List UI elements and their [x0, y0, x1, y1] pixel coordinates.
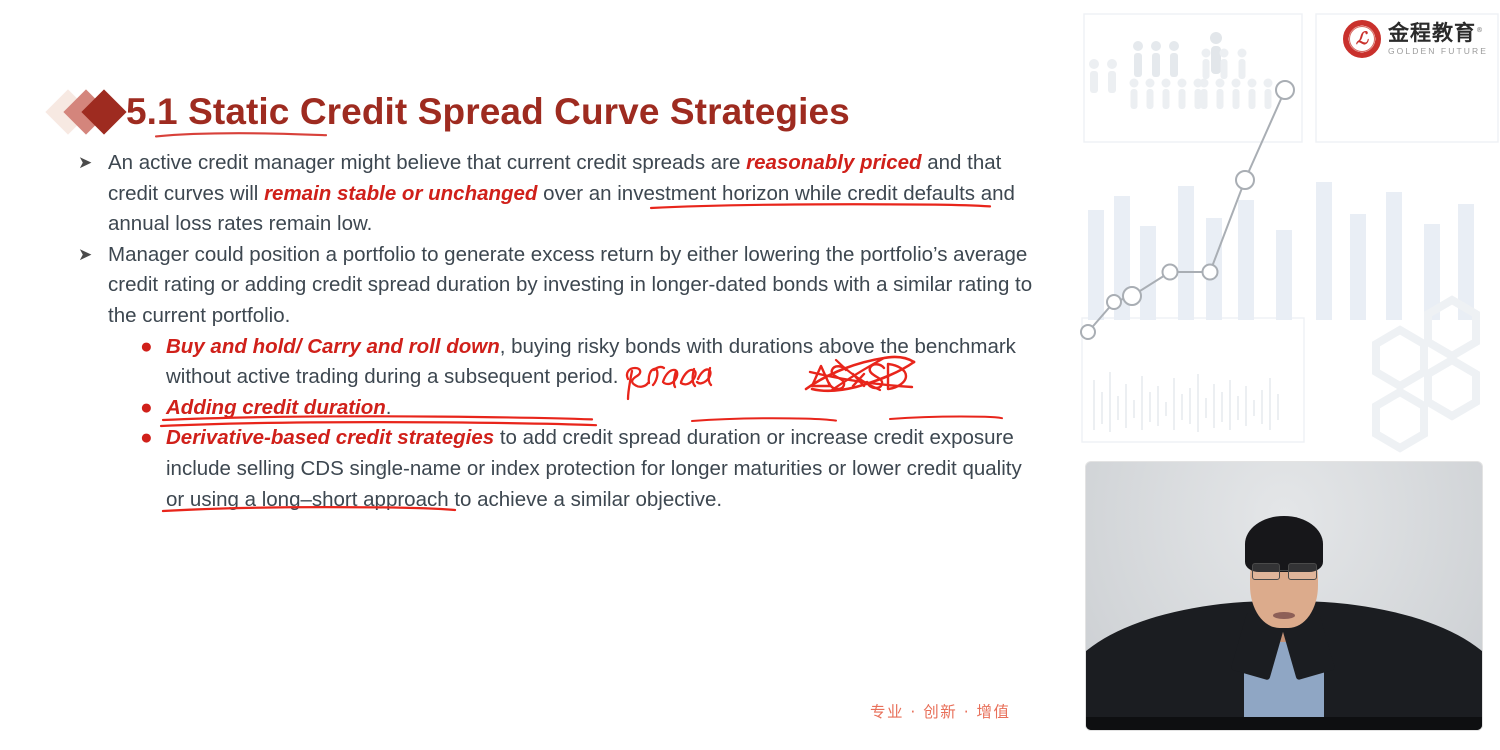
- logo-english-name: GOLDEN FUTURE: [1388, 47, 1488, 56]
- bullet-item: ➤ An active credit manager might believe…: [78, 148, 1038, 240]
- sub-bullet-text: Adding credit duration.: [166, 393, 1038, 424]
- sub-bullet-item: ● Derivative-based credit strategies to …: [140, 423, 1038, 515]
- slide-content-area: 5.1 Static Credit Spread Curve Strategie…: [0, 0, 1080, 750]
- emphasis-adding-credit-duration: Adding credit duration: [166, 396, 386, 419]
- emphasis-remain-stable: remain stable or unchanged: [264, 182, 537, 205]
- logo-seal-icon: ℒ: [1343, 20, 1381, 58]
- arrow-bullet-icon: ➤: [78, 148, 108, 240]
- slide-body: ➤ An active credit manager might believe…: [78, 148, 1038, 515]
- diamond-bullet-icon: [52, 89, 126, 135]
- logo-monogram: ℒ: [1344, 21, 1380, 57]
- sub-bullet-text: Buy and hold/ Carry and roll down, buyin…: [166, 332, 1038, 393]
- footer-tagline: 专业 · 创新 · 增值: [870, 700, 1011, 722]
- emphasis-buy-and-hold: Buy and hold/ Carry and roll down: [166, 335, 500, 358]
- bullet-text: Manager could position a portfolio to ge…: [108, 240, 1038, 332]
- decorative-infographic: [1080, 0, 1500, 460]
- sub-bullet-group: ● Buy and hold/ Carry and roll down, buy…: [140, 332, 1038, 516]
- sub-bullet-item: ● Adding credit duration.: [140, 393, 1038, 424]
- sub-bullet-text: Derivative-based credit strategies to ad…: [166, 423, 1038, 515]
- emphasis-derivative-based: Derivative-based credit strategies: [166, 426, 494, 449]
- dot-bullet-icon: ●: [140, 423, 166, 515]
- page-title: 5.1 Static Credit Spread Curve Strategie…: [126, 93, 850, 130]
- emphasis-reasonably-priced: reasonably priced: [746, 151, 921, 174]
- ink-underline-title: [155, 131, 327, 138]
- trademark-icon: ®: [1476, 26, 1484, 34]
- bullet-item: ➤ Manager could position a portfolio to …: [78, 240, 1038, 332]
- faint-asterisk-mark: *: [380, 464, 384, 476]
- brand-logo: ℒ 金程教育® GOLDEN FUTURE: [1343, 20, 1488, 58]
- dot-bullet-icon: ●: [140, 393, 166, 424]
- arrow-bullet-icon: ➤: [78, 240, 108, 332]
- sub-bullet-item: ● Buy and hold/ Carry and roll down, buy…: [140, 332, 1038, 393]
- logo-chinese-name: 金程教育®: [1388, 23, 1488, 44]
- dot-bullet-icon: ●: [140, 332, 166, 393]
- glasses-icon: [1252, 563, 1317, 580]
- presentation-slide: 5.1 Static Credit Spread Curve Strategie…: [0, 0, 1500, 750]
- instructor-webcam[interactable]: [1086, 462, 1482, 730]
- bullet-text: An active credit manager might believe t…: [108, 148, 1038, 240]
